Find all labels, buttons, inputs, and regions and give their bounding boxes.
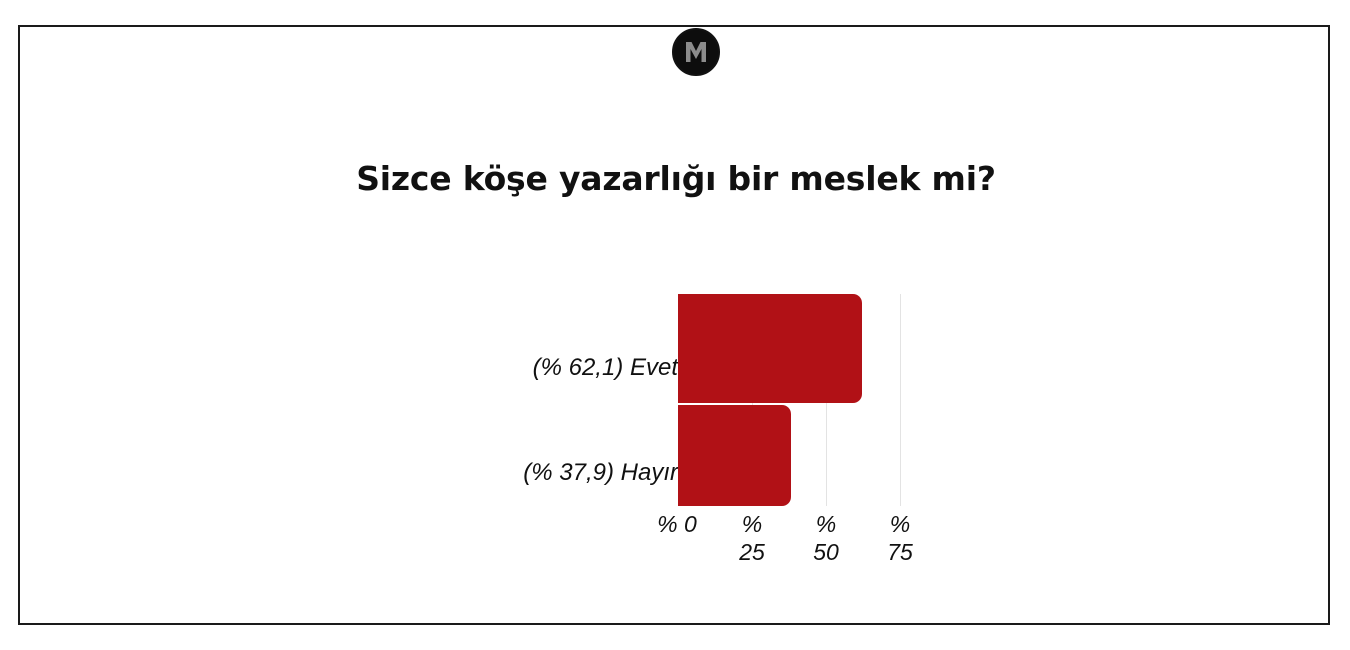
- poll-result-card: Sizce köşe yazarlığı bir meslek mi? (% 6…: [18, 25, 1330, 625]
- m-monogram-logo-icon: [672, 28, 720, 76]
- x-tick-25: % 25: [728, 510, 776, 566]
- bar-evet: [678, 294, 862, 403]
- x-tick-50: % 50: [802, 510, 850, 566]
- bar-label-evet: (% 62,1) Evet: [533, 354, 678, 382]
- bar-hayir: [678, 405, 791, 506]
- bar-label-hayir: (% 37,9) Hayır: [523, 459, 678, 487]
- x-tick-0: % 0: [645, 510, 709, 538]
- bar-chart: (% 62,1) Evet (% 37,9) Hayır % 0 % 25 % …: [20, 27, 1332, 623]
- x-tick-75: % 75: [876, 510, 924, 566]
- gridline-75: [900, 294, 901, 506]
